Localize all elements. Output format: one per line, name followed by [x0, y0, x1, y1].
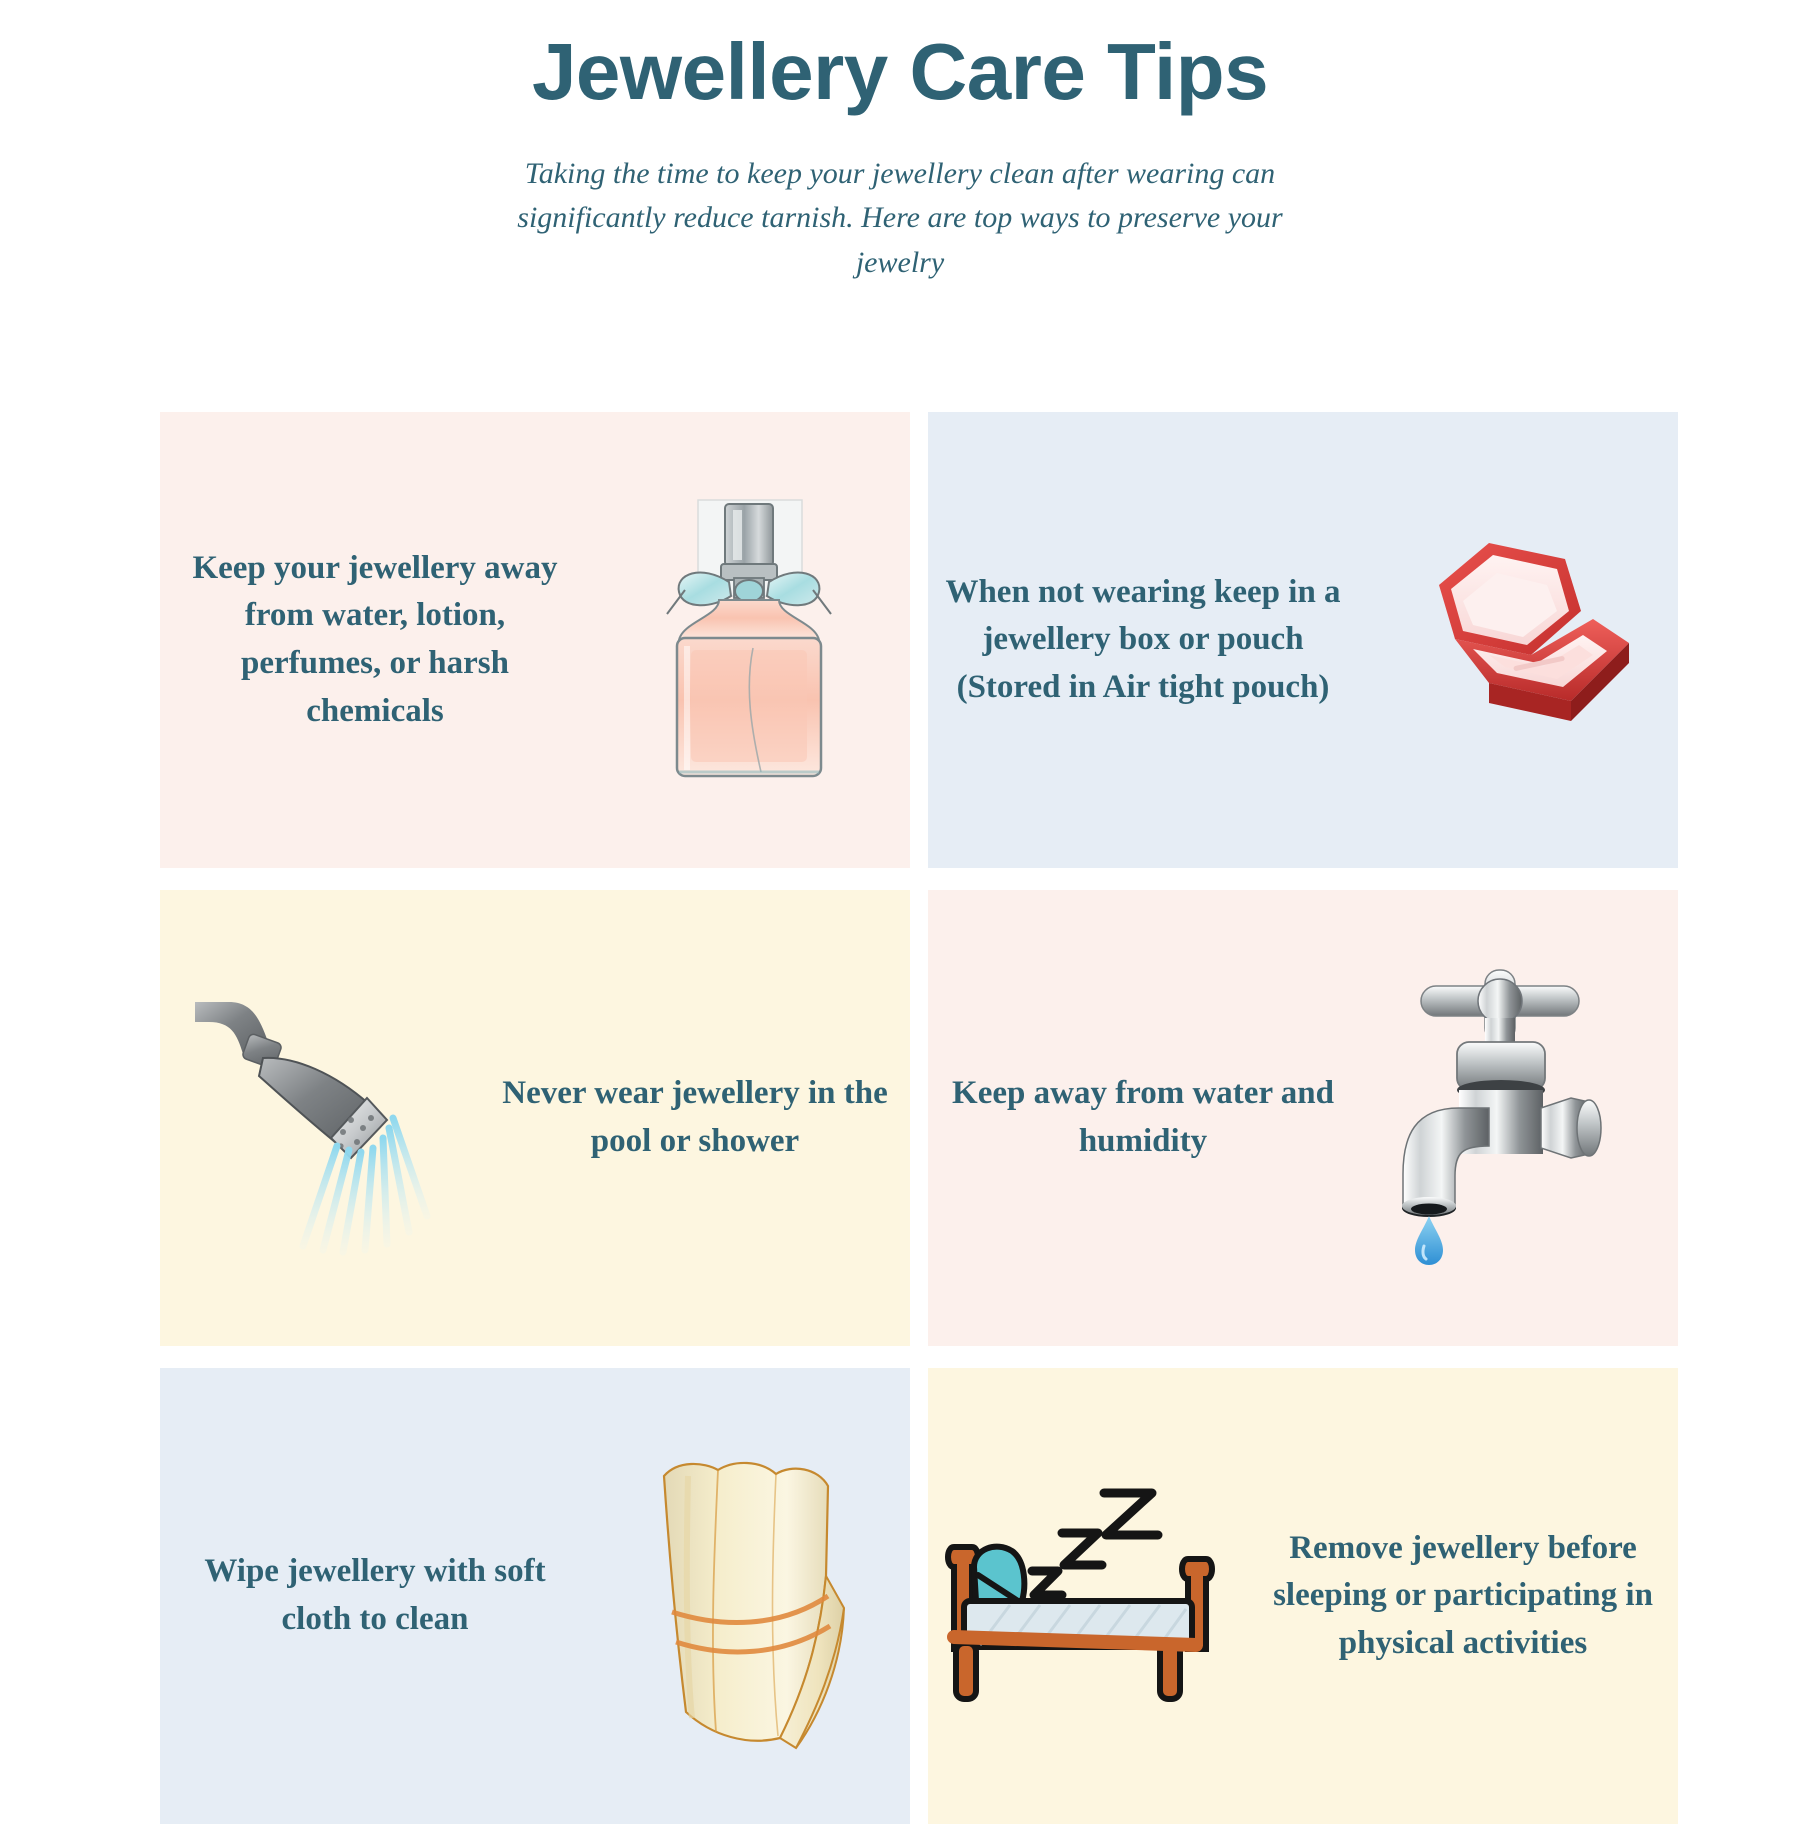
page-subtitle: Taking the time to keep your jewellery c…: [505, 152, 1295, 285]
tip-text: Wipe jewellery with soft cloth to clean: [160, 1548, 590, 1643]
polishing-cloth-icon: [590, 1368, 910, 1824]
tip-text: Keep your jewellery away from water, lot…: [160, 545, 590, 735]
shower-head-icon: [160, 890, 480, 1346]
perfume-bottle-icon: [590, 412, 910, 868]
bed-sleep-illustration: [938, 1471, 1238, 1721]
header: Jewellery Care Tips Taking the time to k…: [0, 0, 1800, 285]
tip-card-wipe: Wipe jewellery with soft cloth to clean: [160, 1368, 910, 1824]
shower-head-illustration: [185, 978, 455, 1258]
tip-text: When not wearing keep in a jewellery box…: [928, 569, 1358, 712]
faucet-illustration: [1393, 968, 1643, 1268]
bed-sleep-icon: [928, 1368, 1248, 1824]
tip-text: Never wear jewellery in the pool or show…: [480, 1070, 910, 1165]
tip-card-chemicals: Keep your jewellery away from water, lot…: [160, 412, 910, 868]
perfume-bottle-illustration: [635, 490, 865, 790]
tip-card-humidity: Keep away from water and humidity: [928, 890, 1678, 1346]
page-title: Jewellery Care Tips: [0, 26, 1800, 118]
tip-text: Remove jewellery before sleeping or part…: [1248, 1525, 1678, 1668]
tip-card-storage: When not wearing keep in a jewellery box…: [928, 412, 1678, 868]
tip-card-sleep: Remove jewellery before sleeping or part…: [928, 1368, 1678, 1824]
infographic-page: Jewellery Care Tips Taking the time to k…: [0, 0, 1800, 1800]
tip-text: Keep away from water and humidity: [928, 1070, 1358, 1165]
polishing-cloth-illustration: [630, 1436, 870, 1756]
ring-box-icon: [1358, 412, 1678, 868]
ring-box-illustration: [1393, 515, 1643, 765]
tip-card-shower: Never wear jewellery in the pool or show…: [160, 890, 910, 1346]
tips-grid: Keep your jewellery away from water, lot…: [160, 412, 1644, 1824]
faucet-icon: [1358, 890, 1678, 1346]
